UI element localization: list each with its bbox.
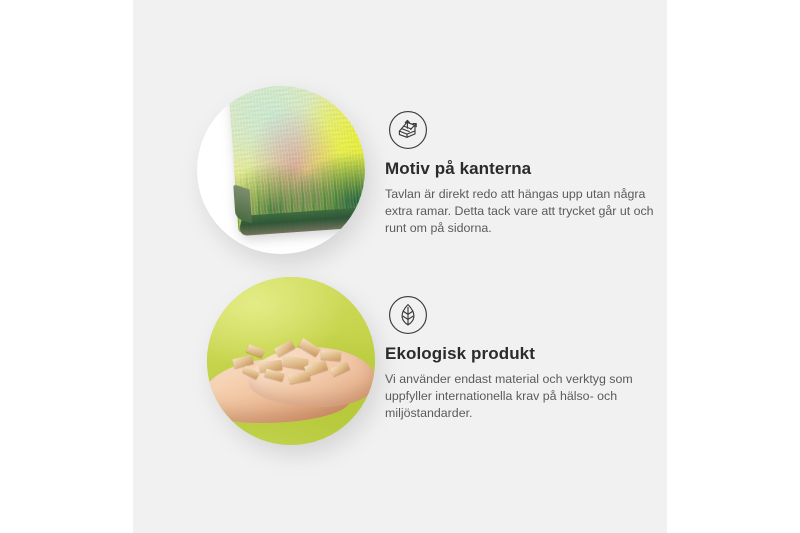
hands-holding-wood-chips-photo	[207, 277, 375, 445]
canvas-print-artwork	[228, 86, 365, 235]
wood-chips	[231, 335, 357, 391]
feature-description: Vi använder endast material och verktyg …	[385, 371, 655, 422]
feature-row-eco: Ekologisk produkt Vi använder endast mat…	[133, 263, 667, 458]
feature-title: Ekologisk produkt	[385, 343, 655, 365]
canvas-wrapped-edges-icon	[388, 110, 428, 150]
feature-title: Motiv på kanterna	[385, 158, 655, 180]
product-info-graphic: Motiv på kanterna Tavlan är direkt redo …	[0, 0, 800, 533]
canvas-print-photo	[197, 86, 365, 254]
feature-panel: Motiv på kanterna Tavlan är direkt redo …	[133, 0, 667, 533]
canvas-side-edge	[233, 184, 252, 223]
feature-row-edges: Motiv på kanterna Tavlan är direkt redo …	[133, 78, 667, 273]
feature-text-eco: Ekologisk produkt Vi använder endast mat…	[385, 343, 655, 422]
feature-text-edges: Motiv på kanterna Tavlan är direkt redo …	[385, 158, 655, 237]
hands	[207, 333, 375, 431]
feature-description: Tavlan är direkt redo att hängas upp uta…	[385, 186, 655, 237]
leaf-icon	[388, 295, 428, 335]
